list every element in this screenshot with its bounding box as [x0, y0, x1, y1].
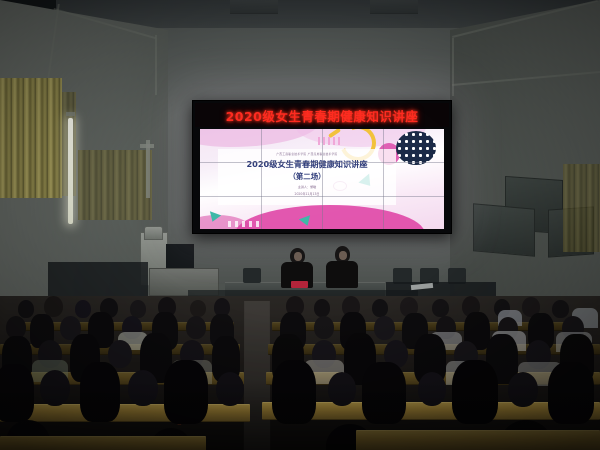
audience-head	[314, 316, 334, 339]
audience-long-hair-front	[452, 360, 498, 424]
slide-subtitle: （第二场）	[289, 171, 326, 182]
audience-long-hair-front	[164, 360, 208, 424]
audience-head	[190, 300, 206, 317]
red-booklet	[291, 281, 308, 288]
ceiling-beam	[230, 0, 278, 14]
bench-foreground-left	[0, 436, 206, 450]
slide-squiggle-b	[228, 221, 262, 227]
audience-head	[186, 316, 206, 339]
panel-seam-h1	[200, 162, 444, 163]
left-stage-shadow	[48, 262, 148, 298]
presenter-left-face	[294, 252, 302, 261]
audience-head	[374, 316, 395, 340]
audience-head	[108, 340, 132, 368]
audience-long-hair-front	[272, 360, 316, 424]
stacked-board-right-b	[473, 203, 535, 256]
led-banner-text: 2020级女生青春期健康知识讲座	[226, 106, 419, 125]
wall-corner-line	[155, 35, 157, 95]
panel-seam-h2	[200, 196, 444, 197]
panel-seam-v1	[261, 129, 262, 229]
audience-long-hair-front	[362, 362, 406, 424]
video-wall[interactable]: 2020级女生青春期健康知识讲座 广西工商职业技术学院	[192, 100, 452, 234]
wall-pipe	[146, 140, 150, 198]
audience-long-hair-front	[548, 362, 594, 424]
presentation-slide[interactable]: 广西工商职业技术学院 广西应用职业技术学院 2020级女生青春期健康知识讲座 （…	[200, 129, 444, 229]
led-banner: 2020级女生青春期健康知识讲座	[195, 103, 449, 127]
curtain-left-lower	[78, 150, 152, 220]
wall-corner-line-right	[452, 38, 454, 96]
audience-head	[314, 299, 330, 317]
bench-foreground-right	[356, 430, 600, 450]
audience-head	[552, 300, 569, 318]
audience-head-front	[508, 372, 538, 407]
presenter-right-face	[339, 251, 347, 260]
slide-title: 2020级女生青春期健康知识讲座	[246, 158, 367, 170]
curtain-left-upper	[0, 78, 62, 198]
slide-org-line: 广西工商职业技术学院 广西应用职业技术学院	[276, 152, 337, 156]
audience-head-front	[418, 372, 446, 406]
audience-head-front	[216, 372, 244, 406]
slide-presenter: 主讲人：黎敏	[298, 184, 317, 189]
slide-blob-bottom	[235, 205, 425, 229]
speaker-box	[166, 244, 194, 268]
presenter-right-body	[326, 261, 358, 288]
ceiling-beam	[370, 0, 418, 14]
water-dispenser-top	[144, 226, 163, 240]
audience-head	[18, 300, 34, 318]
audience-long-hair-front	[80, 362, 120, 422]
panel-seam-v3	[383, 129, 384, 229]
light-bracket	[66, 112, 75, 116]
audience-head	[75, 300, 91, 318]
slide-polkadot-circle	[396, 131, 436, 165]
audience-long-hair-front	[0, 364, 34, 422]
audience-head-front	[40, 370, 70, 406]
audience-head	[432, 299, 449, 317]
bench-row-4-left	[0, 404, 250, 422]
stage-chair-d	[243, 268, 261, 283]
panel-seam-v2	[322, 129, 323, 229]
audience-head	[372, 299, 388, 317]
curtain-right	[563, 164, 600, 252]
audience-head-front	[128, 370, 158, 406]
fluorescent-tube-light	[68, 118, 73, 224]
wall-pipe-bracket	[140, 144, 154, 148]
photo-canvas: 2020级女生青春期健康知识讲座 广西工商职业技术学院	[0, 0, 600, 450]
audience-head-front	[328, 372, 356, 406]
